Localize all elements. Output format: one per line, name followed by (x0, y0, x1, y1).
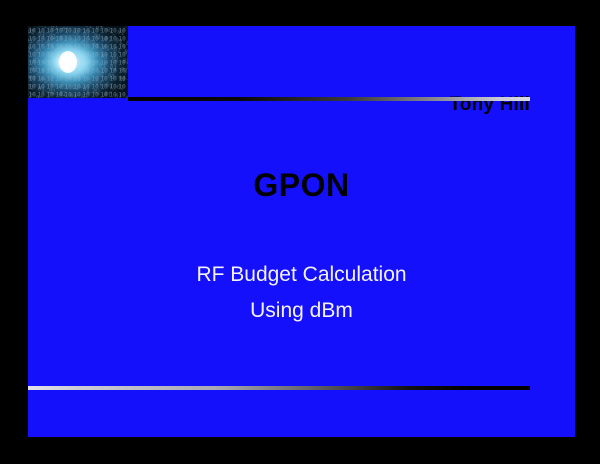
binary-tunnel-graphic: 10 01 (28, 26, 128, 98)
footer-divider-rule (28, 386, 530, 390)
subtitle-line-2: Using dBm (28, 298, 575, 324)
slide-title: GPON (28, 168, 575, 203)
subtitle-block: RF Budget Calculation Using dBm (28, 262, 575, 325)
binary-digit-tunnel-image: 10 01 (28, 26, 128, 98)
subtitle-line-1: RF Budget Calculation (28, 262, 575, 288)
slide-body: 10 01 (28, 26, 575, 437)
slide-canvas: 10 01 (0, 0, 600, 464)
title-block: GPON (28, 168, 575, 203)
header-divider-rule (128, 97, 530, 101)
